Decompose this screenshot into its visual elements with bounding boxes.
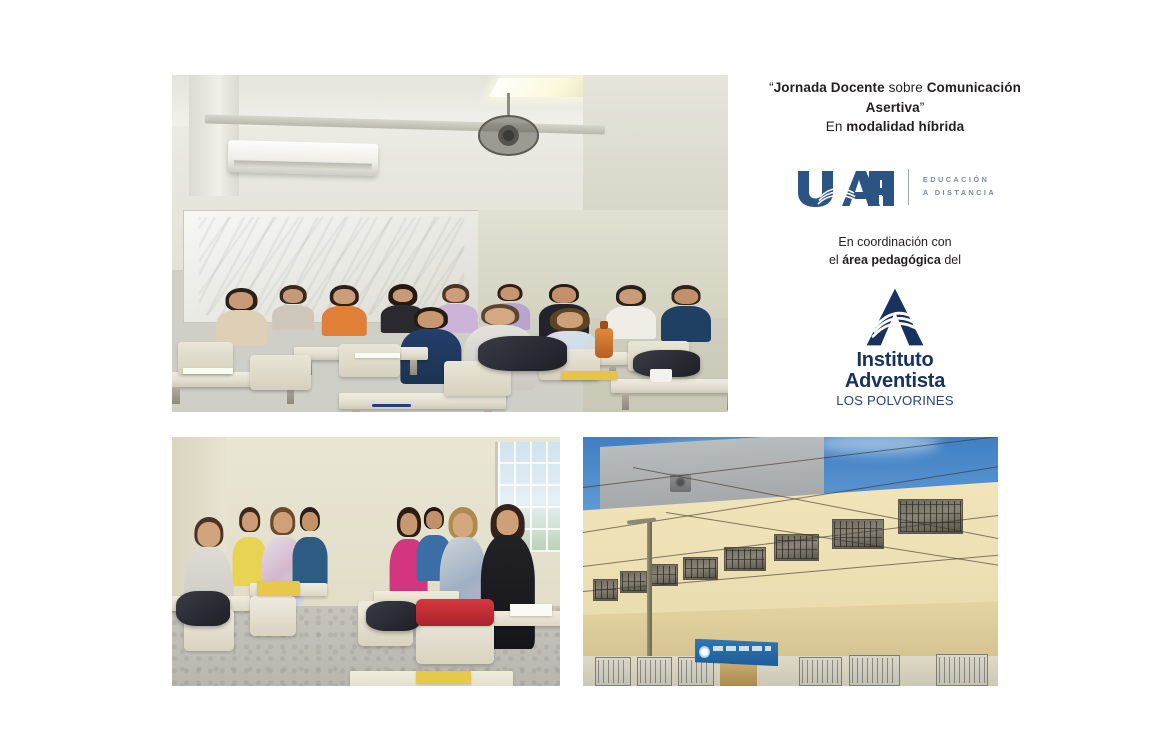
uap-tagline: EDUCACIÓN A DISTANCIA: [923, 174, 996, 200]
window: [620, 571, 647, 593]
event-modality-line: En modalidad híbrida: [740, 117, 1050, 137]
photo-classroom-secondary: [172, 437, 560, 686]
person: [606, 285, 656, 339]
coordination-plain-del: del: [941, 253, 961, 267]
event-title-bold-comunicacion: Comunicación: [927, 80, 1021, 95]
classroom-main-scene: [172, 75, 728, 412]
coordination-bold-area: área pedagógica: [842, 253, 941, 267]
folder: [257, 581, 300, 596]
window: [683, 557, 718, 580]
instituto-adventista-name: Instituto Adventista: [845, 350, 945, 391]
person: [661, 285, 711, 342]
uap-wordmark-icon: [794, 167, 894, 207]
classroom-furniture: [172, 254, 728, 412]
logo-divider: [908, 169, 909, 205]
person: [322, 285, 366, 336]
event-modality-plain: En: [826, 119, 847, 134]
paper-sheet: [183, 368, 233, 374]
backpack: [176, 591, 230, 626]
marker-pen: [372, 404, 411, 407]
ground-window: [936, 654, 988, 686]
event-title-bold-asertiva: Asertiva: [866, 100, 920, 115]
person: [292, 507, 327, 587]
paper-sheet: [355, 353, 399, 359]
coordination-text: En coordinación con el área pedagógica d…: [740, 233, 1050, 271]
event-title-line-1: “Jornada Docente sobre Comunicación: [740, 78, 1050, 98]
instituto-subtitle: LOS POLVORINES: [836, 393, 954, 408]
uap-tagline-line-1: EDUCACIÓN: [923, 174, 996, 187]
uap-tagline-line-2: A DISTANCIA: [923, 187, 996, 200]
ground-window: [849, 655, 901, 686]
person: [216, 288, 266, 345]
red-jacket: [416, 599, 494, 626]
window: [724, 547, 765, 571]
chair: [339, 344, 400, 377]
school-emblem-icon: [699, 646, 710, 659]
instituto-name-line-1: Instituto: [845, 350, 945, 371]
backpack: [366, 601, 420, 631]
chair: [250, 596, 297, 636]
water-bottle: [595, 328, 614, 358]
adventista-a-icon: [854, 286, 936, 348]
slide-canvas: “Jornada Docente sobre Comunicación Aser…: [0, 0, 1170, 750]
ground-window: [595, 657, 630, 686]
chair: [250, 355, 311, 390]
text-column: “Jornada Docente sobre Comunicación Aser…: [740, 78, 1050, 408]
photo-classroom-main: [172, 75, 728, 412]
uap-logo: EDUCACIÓN A DISTANCIA: [740, 167, 1050, 207]
instituto-name-line-2: Adventista: [845, 371, 945, 392]
ground-window: [799, 657, 843, 686]
cup: [650, 369, 672, 382]
folder: [561, 371, 617, 381]
backpack: [478, 336, 567, 371]
event-title-plain-sobre: sobre: [885, 80, 927, 95]
ground-window: [637, 657, 672, 686]
classroom-secondary-scene: [172, 437, 560, 686]
quote-close: ”: [920, 100, 925, 115]
wall-pillar: [189, 75, 239, 196]
instituto-adventista-logo: Instituto Adventista LOS POLVORINES: [740, 286, 1050, 408]
event-title: “Jornada Docente sobre Comunicación Aser…: [740, 78, 1050, 137]
folder: [416, 671, 470, 683]
paper-stack: [510, 604, 553, 616]
coordination-plain-el: el: [829, 253, 842, 267]
event-title-bold-jornada: Jornada Docente: [774, 80, 885, 95]
ceiling-fan-icon: [478, 115, 539, 155]
coordination-line-1: En coordinación con: [740, 233, 1050, 252]
person: [272, 285, 314, 329]
event-modality-bold: modalidad híbrida: [846, 119, 964, 134]
photo-school-building: [583, 437, 998, 686]
event-title-line-2: Asertiva”: [740, 98, 1050, 118]
entrance-sign: [695, 639, 778, 666]
coordination-line-2: el área pedagógica del: [740, 251, 1050, 270]
entrance-door: [720, 664, 757, 686]
school-building-scene: [583, 437, 998, 686]
air-conditioner: [227, 140, 378, 176]
